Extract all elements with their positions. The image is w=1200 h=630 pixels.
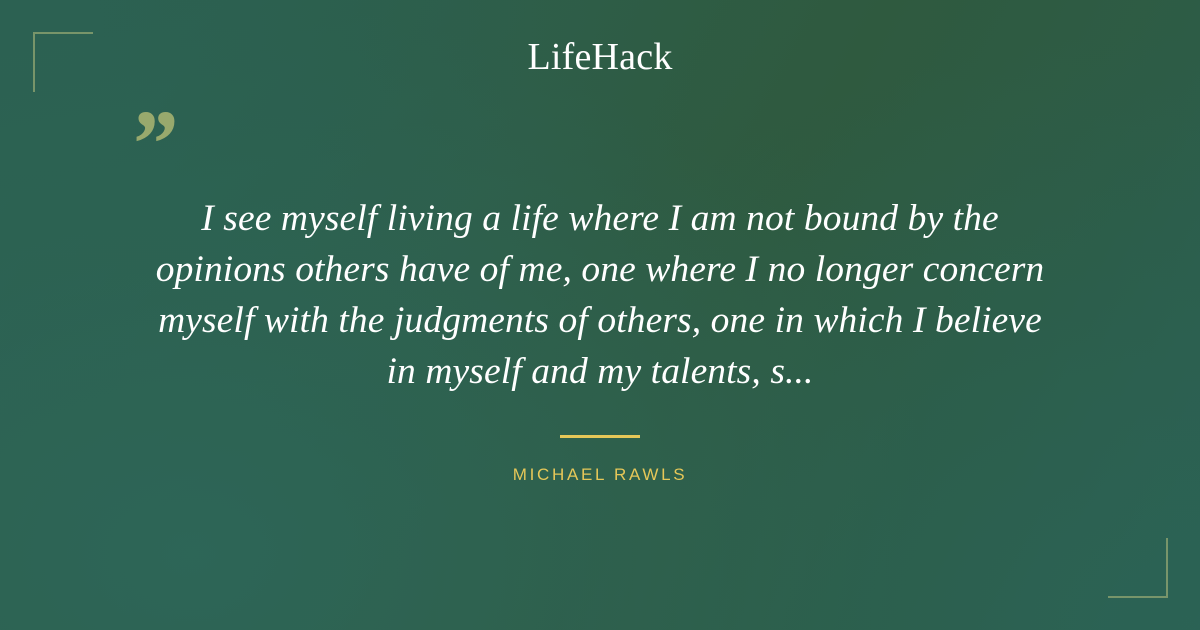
- quote-line: in myself and my talents, s...: [100, 346, 1100, 397]
- quote-block: I see myself living a life where I am no…: [100, 193, 1100, 397]
- quote-author: MICHAEL RAWLS: [0, 464, 1200, 486]
- quote-line: I see myself living a life where I am no…: [100, 193, 1100, 244]
- quote-line: myself with the judgments of others, one…: [100, 295, 1100, 346]
- brand-logo: LifeHack: [0, 38, 1200, 76]
- divider: [560, 435, 640, 438]
- quotation-mark-icon: ”: [128, 96, 176, 192]
- quote-card: LifeHack ” I see myself living a life wh…: [0, 0, 1200, 630]
- corner-bracket-bottom-right-icon: [1108, 538, 1168, 598]
- quote-line: opinions others have of me, one where I …: [100, 244, 1100, 295]
